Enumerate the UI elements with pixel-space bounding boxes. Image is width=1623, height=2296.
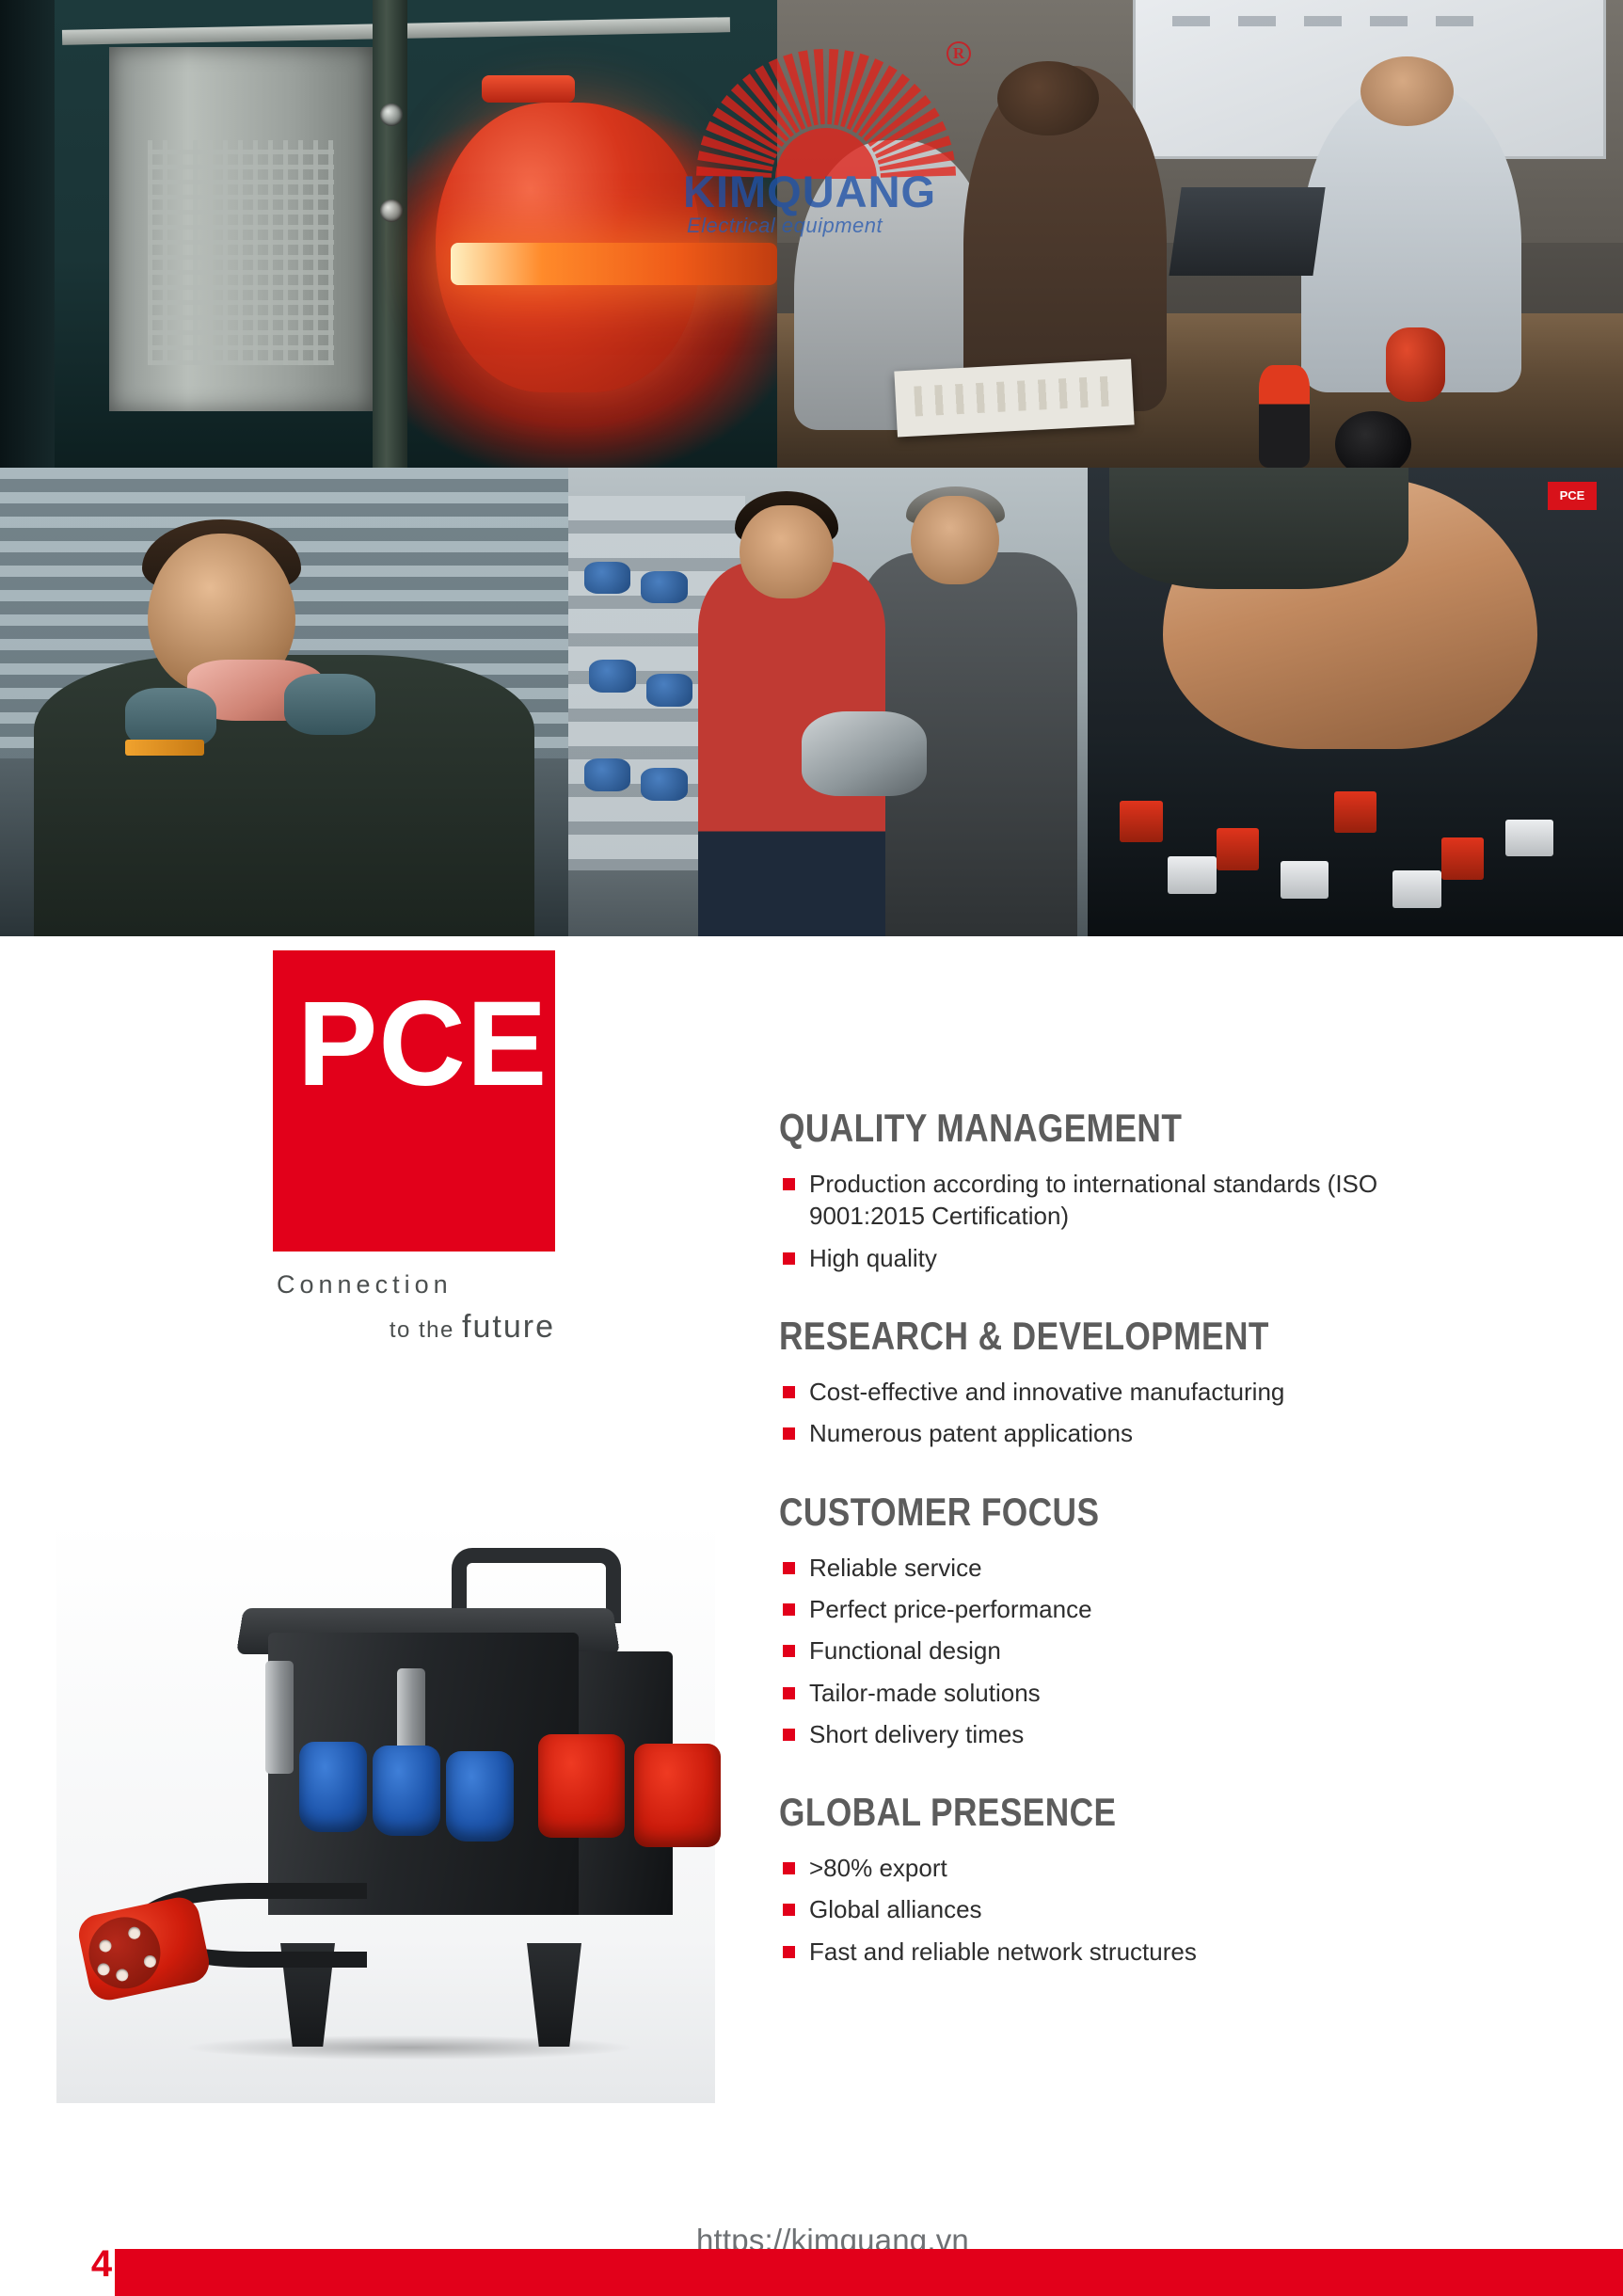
line-white-part	[1392, 870, 1440, 908]
bullet-square-icon	[783, 1729, 795, 1741]
red-socket	[634, 1744, 721, 1847]
plug-pin	[127, 1926, 141, 1940]
sections-column: QUALITY MANAGEMENT Production according …	[779, 1106, 1494, 2007]
rack-blue-part	[641, 571, 688, 604]
section-bullets: Cost-effective and innovative manufactur…	[779, 1376, 1494, 1450]
bullet-text: Perfect price-performance	[809, 1595, 1092, 1623]
bullet-item: High quality	[779, 1242, 1494, 1274]
bullet-item: Perfect price-performance	[779, 1593, 1494, 1625]
assembly-person-right-head	[911, 496, 999, 585]
meeting-person-center-head	[997, 61, 1099, 136]
meeting-person-right-head	[1360, 56, 1454, 127]
tagline-line-1: Connection	[273, 1270, 555, 1299]
bullet-item: Production according to international st…	[779, 1168, 1494, 1233]
bullet-item: Reliable service	[779, 1552, 1494, 1584]
plug-pin	[143, 1954, 157, 1969]
bullet-text: High quality	[809, 1244, 937, 1272]
section-bullets: >80% export Global alliances Fast and re…	[779, 1852, 1494, 1968]
bullet-square-icon	[783, 1252, 795, 1265]
rack-blue-part	[584, 758, 631, 791]
section-title: GLOBAL PRESENCE	[779, 1790, 1379, 1835]
line-white-part	[1168, 856, 1216, 894]
assembly-person-left-head	[740, 505, 833, 599]
section-title: CUSTOMER FOCUS	[779, 1490, 1379, 1535]
laptop-icon	[1169, 187, 1325, 276]
forge-bolt-icon	[380, 199, 403, 222]
forge-hot-glow	[451, 243, 777, 285]
bullet-item: >80% export	[779, 1852, 1494, 1884]
section-bullets: Production according to international st…	[779, 1168, 1494, 1274]
forge-post	[373, 0, 406, 468]
tagline-line-2: to the future	[273, 1309, 555, 1346]
orange-armband	[125, 740, 205, 756]
bullet-square-icon	[783, 1562, 795, 1574]
bullet-text: >80% export	[809, 1854, 947, 1882]
red-socket	[538, 1734, 625, 1838]
meeting-connector-red	[1386, 327, 1445, 403]
production-line-photo	[1088, 468, 1623, 936]
bullet-text: Cost-effective and innovative manufactur…	[809, 1378, 1284, 1406]
bullet-square-icon	[783, 1178, 795, 1190]
plug-pin	[98, 1938, 112, 1953]
bullet-text: Fast and reliable network structures	[809, 1937, 1197, 1966]
section-quality-management: QUALITY MANAGEMENT Production according …	[779, 1106, 1494, 1274]
inspection-photo	[0, 468, 568, 936]
rack-blue-part	[641, 768, 688, 801]
forge-red-cap	[482, 75, 575, 104]
bullet-item: Fast and reliable network structures	[779, 1936, 1494, 1968]
bullet-item: Global alliances	[779, 1893, 1494, 1925]
section-customer-focus: CUSTOMER FOCUS Reliable service Perfect …	[779, 1490, 1494, 1751]
section-title: QUALITY MANAGEMENT	[779, 1106, 1379, 1151]
blue-socket	[299, 1742, 367, 1832]
content-area: PCE Connection to the future	[0, 936, 1623, 2296]
line-red-part	[1120, 801, 1163, 843]
bullet-square-icon	[783, 1645, 795, 1657]
tagline-small: to the	[390, 1317, 462, 1343]
pce-tagline: Connection to the future	[273, 1270, 555, 1346]
footer-red-bar	[115, 2249, 1623, 2296]
forge-photo	[0, 0, 777, 468]
section-global-presence: GLOBAL PRESENCE >80% export Global allia…	[779, 1790, 1494, 1968]
worker-sleeve	[1109, 468, 1409, 589]
tagline-big: future	[462, 1309, 555, 1345]
blue-socket	[446, 1751, 514, 1842]
bullet-item: Cost-effective and innovative manufactur…	[779, 1376, 1494, 1408]
work-glove-right	[284, 674, 375, 735]
rack-blue-part	[589, 660, 636, 693]
bullet-square-icon	[783, 1427, 795, 1440]
plug-pin	[115, 1968, 129, 1982]
page-number: 4	[83, 2243, 120, 2286]
bullet-item: Short delivery times	[779, 1718, 1494, 1750]
pce-logo-text: PCE	[297, 984, 548, 1105]
section-bullets: Reliable service Perfect price-performan…	[779, 1552, 1494, 1751]
bullet-text: Reliable service	[809, 1554, 982, 1582]
line-red-part	[1441, 837, 1485, 880]
product-photo	[56, 1520, 715, 2103]
line-white-part	[1505, 820, 1553, 857]
forge-mesh-grid	[148, 140, 334, 365]
meeting-document	[894, 359, 1134, 437]
pce-logo-block: PCE Connection to the future	[273, 950, 555, 1346]
forge-bolt-icon	[380, 104, 403, 126]
bullet-item: Functional design	[779, 1634, 1494, 1666]
bullet-text: Tailor-made solutions	[809, 1679, 1041, 1707]
bullet-square-icon	[783, 1862, 795, 1874]
pce-logo-square: PCE	[273, 950, 555, 1252]
bullet-item: Numerous patent applications	[779, 1417, 1494, 1449]
assembled-component	[802, 711, 926, 796]
forge-edge-shadow	[0, 0, 55, 468]
assembly-photo	[568, 468, 1088, 936]
line-white-part	[1281, 861, 1329, 899]
section-title: RESEARCH & DEVELOPMENT	[779, 1314, 1379, 1359]
pce-logo-tag-icon	[1548, 482, 1596, 510]
plug-pin	[96, 1962, 110, 1976]
bullet-square-icon	[783, 1603, 795, 1616]
line-red-part	[1334, 791, 1377, 834]
meeting-photo	[777, 0, 1623, 468]
product-latch	[265, 1661, 294, 1774]
bullet-square-icon	[783, 1946, 795, 1958]
photo-collage: R KIMQUANG Electrical equipment	[0, 0, 1623, 936]
bullet-text: Global alliances	[809, 1895, 982, 1923]
meeting-connector-dark	[1335, 411, 1411, 468]
bullet-text: Short delivery times	[809, 1720, 1024, 1748]
page-footer: https://kimquang.vn 4	[0, 2249, 1623, 2296]
bullet-text: Functional design	[809, 1636, 1001, 1665]
rack-blue-part	[646, 674, 693, 707]
rack-blue-part	[584, 562, 631, 595]
line-red-part	[1217, 828, 1260, 870]
brochure-page: R KIMQUANG Electrical equipment PCE Conn…	[0, 0, 1623, 2296]
bullet-square-icon	[783, 1386, 795, 1398]
plug-face	[82, 1910, 167, 1995]
bullet-square-icon	[783, 1904, 795, 1916]
blue-socket	[373, 1746, 440, 1836]
section-research-development: RESEARCH & DEVELOPMENT Cost-effective an…	[779, 1314, 1494, 1450]
bullet-item: Tailor-made solutions	[779, 1677, 1494, 1709]
meeting-connector-standing	[1259, 365, 1310, 468]
bullet-square-icon	[783, 1687, 795, 1699]
bullet-text: Numerous patent applications	[809, 1419, 1133, 1447]
bullet-text: Production according to international st…	[809, 1170, 1377, 1230]
